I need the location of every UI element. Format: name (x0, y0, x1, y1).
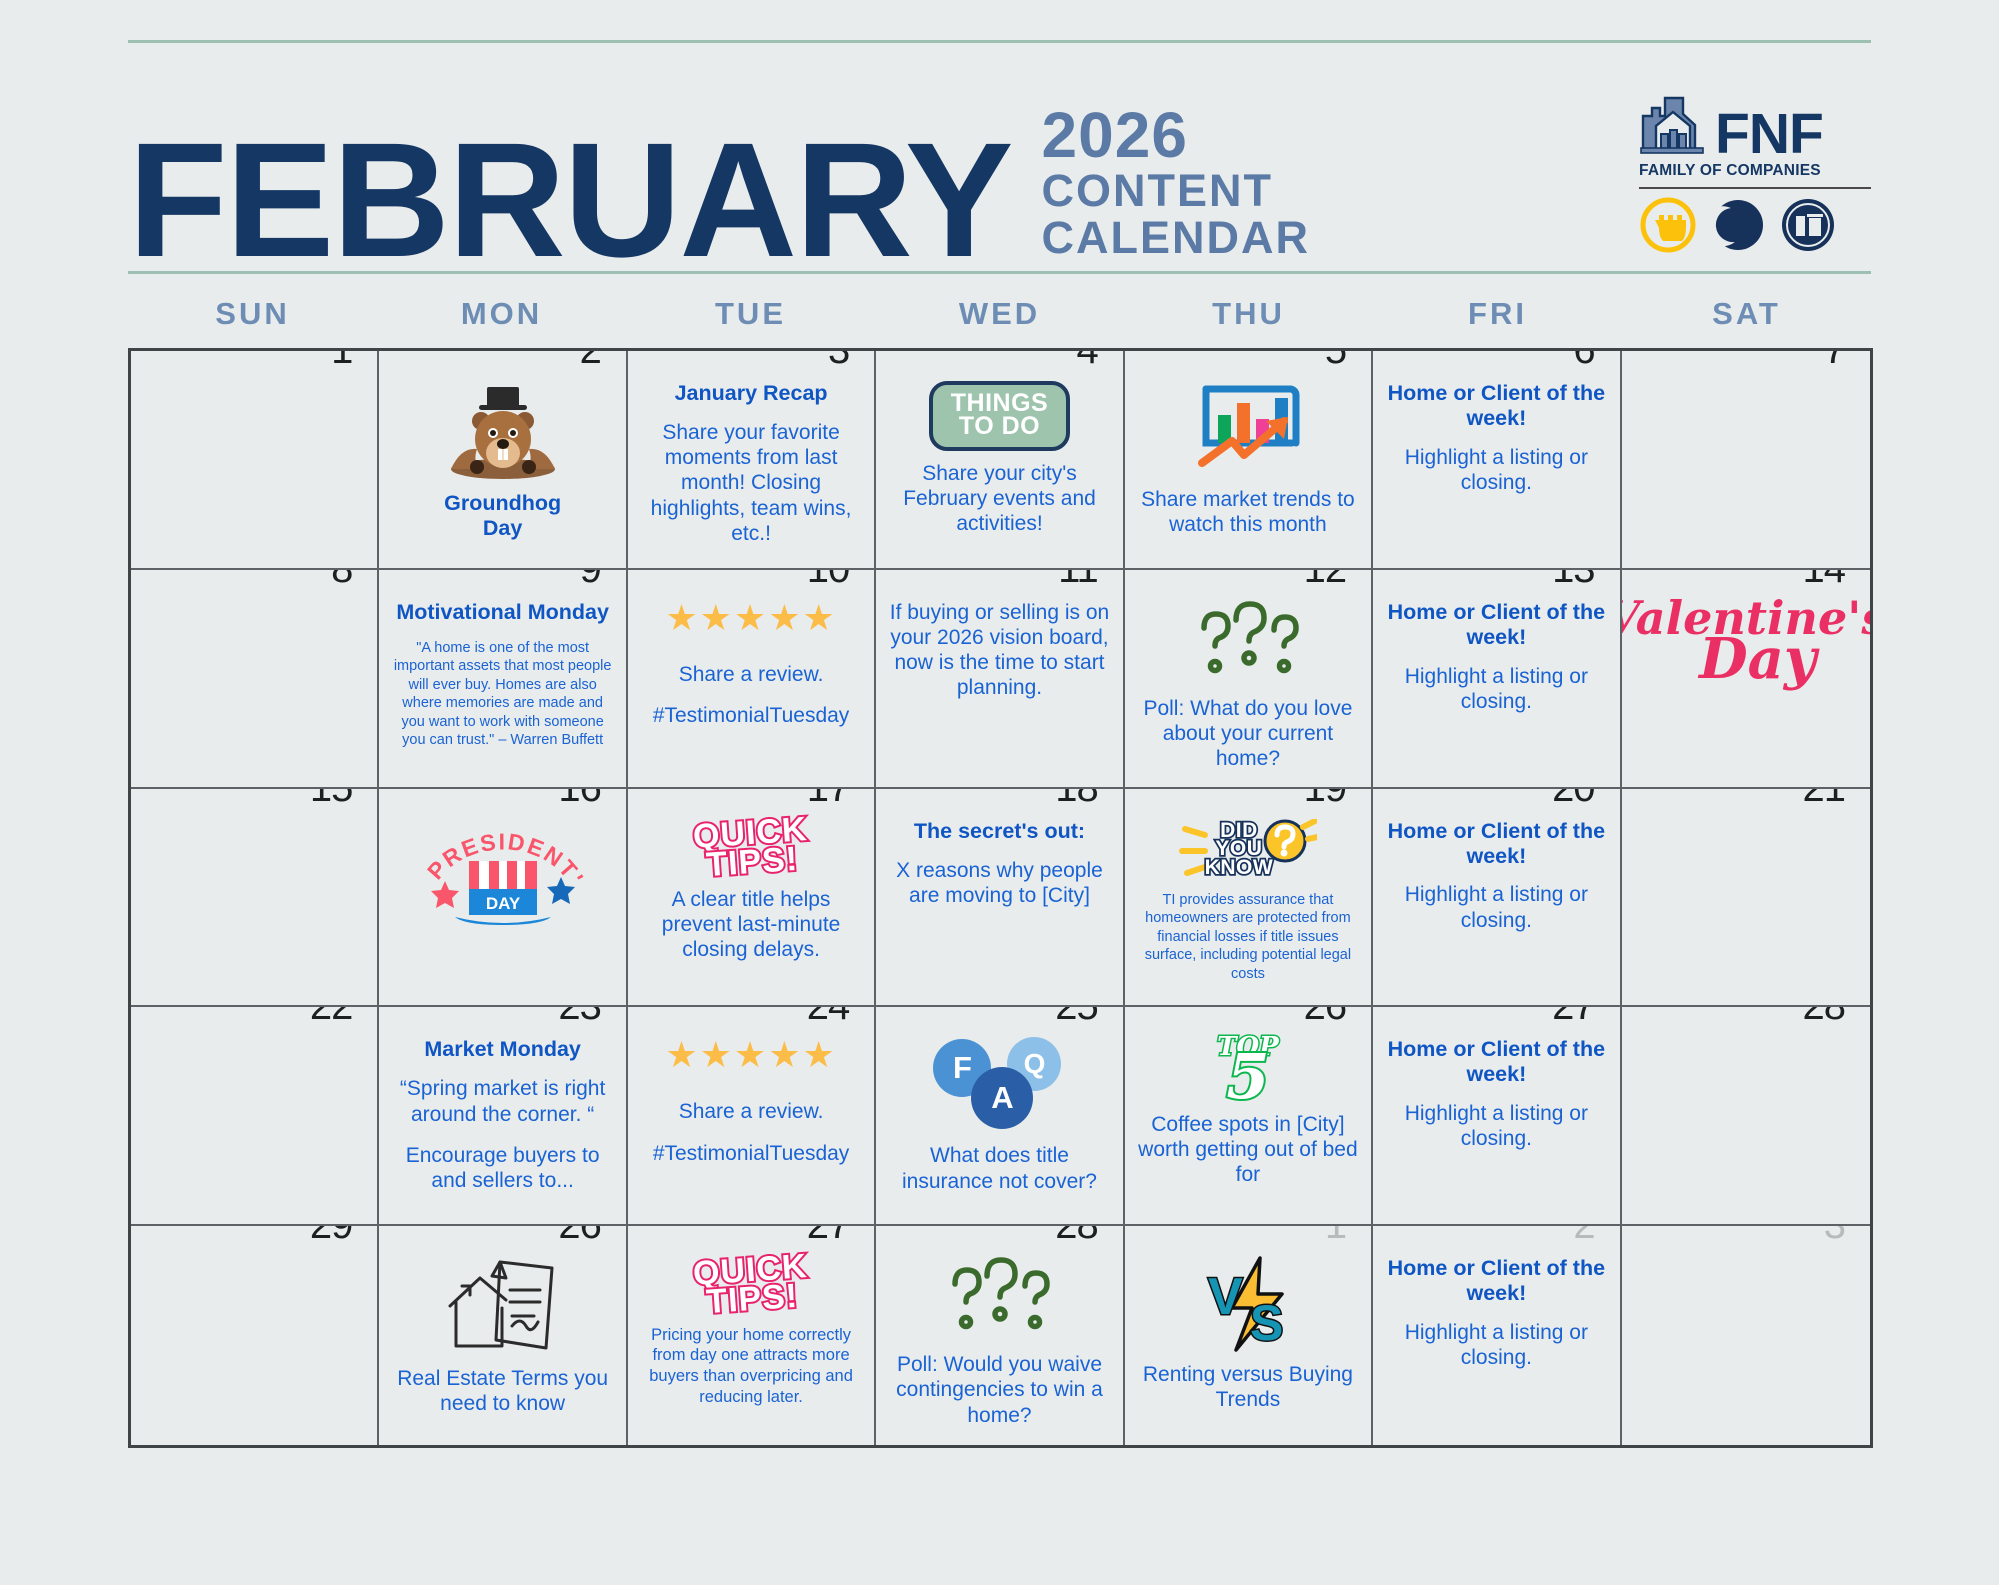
fnf-tagline: FAMILY OF COMPANIES (1639, 162, 1871, 180)
cell-title: Market Monday (424, 1037, 581, 1062)
cell-text: If buying or selling is on your 2026 vis… (886, 600, 1112, 701)
dow-wed: WED (875, 296, 1124, 332)
calendar-day-cell[interactable]: 2Home or Client of the week!Highlight a … (1373, 1226, 1621, 1445)
day-number: 22 (299, 1007, 364, 1027)
top-5-badge: TOP5 (1217, 1037, 1279, 1101)
calendar-day-cell[interactable]: 23Market Monday“Spring market is right a… (379, 1007, 627, 1226)
bar-chart-icon (1192, 381, 1304, 477)
quick-tips-badge: QUICKTIPS! (694, 819, 809, 877)
day-number: 27 (1541, 1007, 1606, 1027)
calendar-label: CALENDAR (1042, 214, 1311, 261)
calendar-day-cell[interactable]: 11If buying or selling is on your 2026 v… (876, 570, 1124, 789)
day-number: 9 (569, 570, 612, 590)
calendar-day-cell[interactable]: 13Home or Client of the week!Highlight a… (1373, 570, 1621, 789)
fnf-building-mark-icon (1639, 92, 1707, 159)
svg-text:S: S (1250, 1295, 1283, 1351)
calendar-day-cell[interactable]: 1 V S Renting versus Buying Trends (1125, 1226, 1373, 1445)
cell-text: A clear title helps prevent last-minute … (638, 887, 864, 963)
valentines-day-script: Valentine'sDay (1622, 600, 1870, 682)
cell-text: Share a review. (679, 662, 824, 687)
calendar-day-cell[interactable]: 10★★★★★Share a review.#TestimonialTuesda… (628, 570, 876, 789)
cell-text: Poll: Would you waive contingencies to w… (886, 1352, 1112, 1428)
day-number: 2 (569, 351, 612, 371)
calendar-day-cell[interactable]: 29 (131, 1226, 379, 1445)
cell-text: Share your city's February events and ac… (886, 461, 1112, 537)
cell-text: X reasons why people are moving to [City… (886, 858, 1112, 908)
day-number: 4 (1065, 351, 1108, 371)
day-number: 26 (1293, 1007, 1358, 1027)
day-number: 5 (1314, 351, 1357, 371)
day-number: 20 (1541, 789, 1606, 809)
cell-text: "A home is one of the most important ass… (389, 639, 615, 750)
calendar-day-cell[interactable]: 12 Poll: What do you love about your cur… (1125, 570, 1373, 789)
calendar-day-cell[interactable]: 8 (131, 570, 379, 789)
cell-text: Highlight a listing or closing. (1383, 445, 1609, 495)
calendar-day-cell[interactable]: 26 TOP5Coffee spots in [City] worth gett… (1125, 1007, 1373, 1226)
day-number: 7 (1813, 351, 1856, 371)
cell-title: Home or Client of the week! (1383, 600, 1609, 650)
cell-text: Highlight a listing or closing. (1383, 1320, 1609, 1370)
dow-mon: MON (377, 296, 626, 332)
day-number: 25 (1044, 1007, 1109, 1027)
dow-sat: SAT (1622, 296, 1871, 332)
cell-text: Poll: What do you love about your curren… (1135, 696, 1361, 772)
cell-text: Pricing your home correctly from day one… (638, 1325, 864, 1408)
dow-sun: SUN (128, 296, 377, 332)
cell-title: Groundhog Day (444, 491, 561, 541)
day-number: 28 (1792, 1007, 1857, 1027)
question-marks-icon (937, 1256, 1061, 1342)
calendar-day-cell[interactable]: 21 (1622, 789, 1870, 1008)
day-number: 3 (817, 351, 860, 371)
seal-logo-icon (1779, 196, 1837, 259)
day-number: 6 (1562, 351, 1605, 371)
top-5-label: TOP5 (1217, 1037, 1279, 1101)
cell-text: What does title insurance not cover? (886, 1143, 1112, 1193)
dow-thu: THU (1124, 296, 1373, 332)
day-number: 23 (547, 1007, 612, 1027)
year-subtitle-group: 2026 CONTENT CALENDAR (1042, 103, 1311, 272)
calendar-day-cell[interactable]: 1 (131, 351, 379, 570)
day-number: 1 (320, 351, 363, 371)
cell-title: Motivational Monday (396, 600, 609, 625)
quick-tips-label: QUICKTIPS! (692, 1252, 810, 1318)
cell-title: Home or Client of the week! (1383, 819, 1609, 869)
calendar-page: FEBRUARY 2026 CONTENT CALENDAR (0, 40, 1999, 1585)
calendar-day-cell[interactable]: 17 QUICKTIPS!A clear title helps prevent… (628, 789, 876, 1008)
calendar-day-cell[interactable]: 5 Share market trends to watch this mont… (1125, 351, 1373, 570)
calendar-day-cell[interactable]: 2 Groundhog Day (379, 351, 627, 570)
title-group: FEBRUARY 2026 CONTENT CALENDAR (128, 103, 1310, 272)
faq-bubbles-icon: F Q A (933, 1037, 1065, 1133)
day-number: 15 (299, 789, 364, 809)
bubble-a-icon: A (971, 1067, 1033, 1129)
day-number: 12 (1293, 570, 1358, 590)
calendar-day-cell[interactable]: 6Home or Client of the week!Highlight a … (1373, 351, 1621, 570)
cell-text: Renting versus Buying Trends (1135, 1362, 1361, 1412)
page-title: FEBRUARY (128, 128, 1012, 271)
content-label: CONTENT (1042, 167, 1311, 214)
cell-title: Home or Client of the week! (1383, 1256, 1609, 1306)
calendar-day-cell[interactable]: 27 QUICKTIPS!Pricing your home correctly… (628, 1226, 876, 1445)
did-you-know-label: DID YOU KNOW (1205, 822, 1274, 877)
quick-tips-badge: QUICKTIPS! (694, 1256, 809, 1314)
calendar-day-cell[interactable]: 7 (1622, 351, 1870, 570)
cell-text: Share your favorite moments from last mo… (638, 420, 864, 546)
calendar-header: FEBRUARY 2026 CONTENT CALENDAR (128, 43, 1871, 271)
day-number: 18 (1044, 789, 1109, 809)
calendar-day-cell[interactable]: 18The secret's out:X reasons why people … (876, 789, 1124, 1008)
day-number: 17 (796, 789, 861, 809)
did-you-know-badge: DID YOU KNOW (1179, 819, 1318, 881)
day-number: 1 (1314, 1226, 1357, 1246)
things-to-do-badge: THINGSTO DO (929, 381, 1070, 451)
cell-text: TI provides assurance that homeowners ar… (1135, 891, 1361, 984)
cell-title: The secret's out: (914, 819, 1085, 844)
calendar-day-cell[interactable]: 3 (1622, 1226, 1870, 1445)
cell-text-secondary: Encourage buyers to and sellers to... (389, 1143, 615, 1193)
cell-title: January Recap (675, 381, 828, 406)
faq-bubbles: F Q A (933, 1037, 1065, 1133)
day-number: 10 (796, 570, 861, 590)
cell-text: Highlight a listing or closing. (1383, 1101, 1609, 1151)
dow-tue: TUE (626, 296, 875, 332)
day-number: 14 (1792, 570, 1857, 590)
cell-text: Highlight a listing or closing. (1383, 882, 1609, 932)
five-stars-rating: ★★★★★ (665, 600, 836, 652)
day-number: 3 (1813, 1226, 1856, 1246)
svg-text:DAY: DAY (485, 894, 520, 913)
cell-text: Real Estate Terms you need to know (389, 1366, 615, 1416)
cell-title: Home or Client of the week! (1383, 381, 1609, 431)
calendar-day-cell[interactable]: 25 F Q A What does title insurance not c… (876, 1007, 1124, 1226)
quick-tips-label: QUICKTIPS! (692, 815, 810, 881)
day-number: 21 (1792, 789, 1857, 809)
calendar-day-cell[interactable]: 3January RecapShare your favorite moment… (628, 351, 876, 570)
calendar-grid: 12 Groundhog Day3January RecapShare your… (128, 348, 1873, 1448)
year-label: 2026 (1042, 103, 1311, 167)
day-number: 16 (547, 789, 612, 809)
day-number: 11 (1047, 570, 1109, 590)
star-icons: ★★★★★ (665, 1037, 836, 1073)
day-number: 8 (320, 570, 363, 590)
day-number: 28 (1044, 1226, 1109, 1246)
calendar-day-cell[interactable]: 24★★★★★Share a review.#TestimonialTuesda… (628, 1007, 876, 1226)
cell-text-secondary: #TestimonialTuesday (653, 703, 850, 728)
svg-text:V: V (1208, 1268, 1243, 1326)
cell-text: Coffee spots in [City] worth getting out… (1135, 1112, 1361, 1188)
day-number: 2 (1562, 1226, 1605, 1246)
fnf-logo: FNF FAMILY OF COMPANIES (1639, 92, 1871, 271)
castle-logo-icon (1639, 196, 1697, 259)
calendar-day-cell[interactable]: 22 (131, 1007, 379, 1226)
calendar-day-cell[interactable]: 28 Poll: Would you waive contingencies t… (876, 1226, 1124, 1445)
house-document-icon (442, 1256, 564, 1356)
calendar-day-cell[interactable]: 27Home or Client of the week!Highlight a… (1373, 1007, 1621, 1226)
day-number: 29 (299, 1226, 364, 1246)
versus-icon: V S (1196, 1256, 1300, 1352)
calendar-day-cell[interactable]: 20Home or Client of the week!Highlight a… (1373, 789, 1621, 1008)
star-icons: ★★★★★ (665, 600, 836, 636)
day-number: 27 (796, 1226, 861, 1246)
question-marks-icon (1186, 600, 1310, 686)
cell-title: Home or Client of the week! (1383, 1037, 1609, 1087)
day-number: 19 (1293, 789, 1358, 809)
fnf-wordmark: FNF (1715, 110, 1823, 159)
logo-divider (1639, 187, 1871, 189)
calendar-day-cell[interactable]: 14 Valentine'sDay (1622, 570, 1870, 789)
crescent-logo-icon (1709, 196, 1767, 259)
calendar-day-cell[interactable]: 4 THINGSTO DOShare your city's February … (876, 351, 1124, 570)
cell-text-secondary: #TestimonialTuesday (653, 1141, 850, 1166)
groundhog-icon (443, 381, 563, 481)
cell-text: Highlight a listing or closing. (1383, 664, 1609, 714)
day-number: 26 (547, 1226, 612, 1246)
cell-text: “Spring market is right around the corne… (389, 1076, 615, 1126)
calendar-day-cell[interactable]: 26 Real Estate Terms you need to know (379, 1226, 627, 1445)
day-number: 13 (1541, 570, 1606, 590)
calendar-day-cell[interactable]: 28 (1622, 1007, 1870, 1226)
dow-fri: FRI (1373, 296, 1622, 332)
calendar-day-cell[interactable]: 19 DID YOU KNOW TI provides assurance th… (1125, 789, 1373, 1008)
cell-text: Share a review. (679, 1099, 824, 1124)
calendar-day-cell[interactable]: 15 (131, 789, 379, 1008)
day-number: 24 (796, 1007, 861, 1027)
subsidiary-logos (1639, 196, 1871, 259)
cell-text: Share market trends to watch this month (1135, 487, 1361, 537)
valentines-day-label: Valentine'sDay (1622, 600, 1870, 682)
things-to-do-label: THINGSTO DO (929, 381, 1070, 451)
five-stars-rating: ★★★★★ (665, 1037, 836, 1089)
calendar-day-cell[interactable]: 9Motivational Monday"A home is one of th… (379, 570, 627, 789)
calendar-day-cell[interactable]: 16 PRESIDENT'S DAY (379, 789, 627, 1008)
presidents-day-hat-icon: PRESIDENT'S DAY (419, 819, 587, 927)
